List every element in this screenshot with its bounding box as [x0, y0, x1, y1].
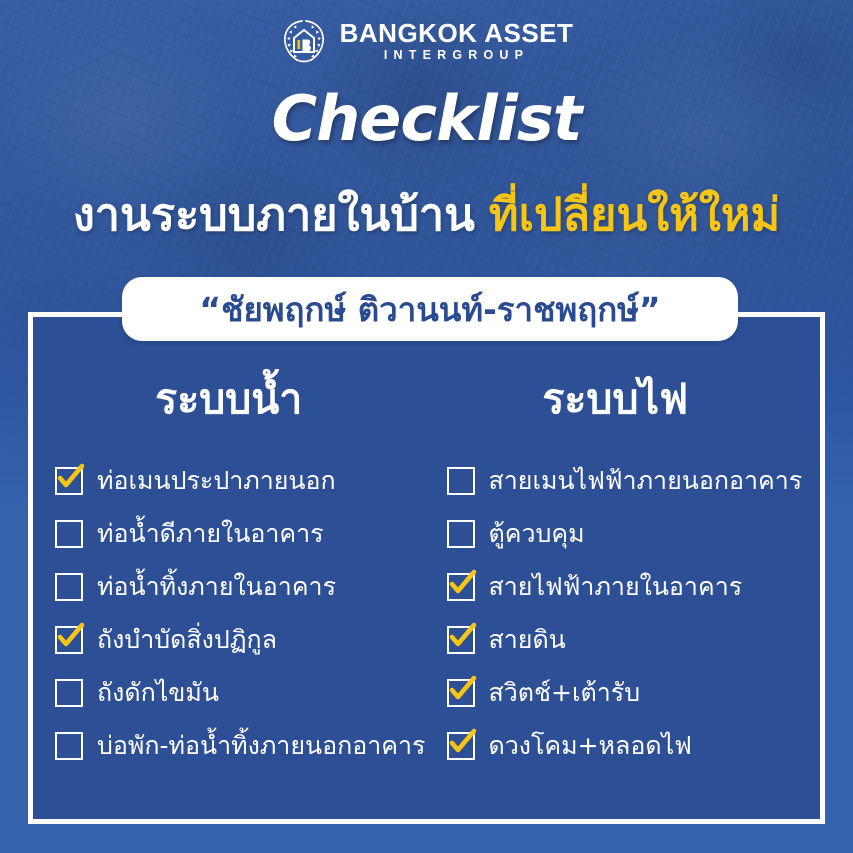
- list-item[interactable]: ถังดักไขมัน: [55, 666, 427, 719]
- list-item[interactable]: สายไฟฟ้าภายในอาคาร: [447, 560, 821, 613]
- list-item[interactable]: ท่อน้ำดีภายในอาคาร: [55, 507, 427, 560]
- project-name-text: “ชัยพฤกษ์ ติวานนท์-ราชพฤกษ์”: [199, 283, 660, 336]
- brand-name: BANGKOK ASSET: [340, 20, 574, 46]
- subtitle-white-part: งานระบบภายในบ้าน: [73, 188, 475, 241]
- list-item[interactable]: สวิตช์+เต้ารับ: [447, 666, 821, 719]
- checkbox-checked-icon[interactable]: [55, 626, 83, 654]
- list-item-label: สายไฟฟ้าภายในอาคาร: [489, 573, 743, 601]
- checklist-column-water: ระบบน้ำ ท่อเมนประปาภายนอก ท่: [33, 379, 427, 819]
- checkbox-checked-icon[interactable]: [447, 626, 475, 654]
- checklist-poster: BANGKOK ASSET INTERGROUP Checklist งานระ…: [0, 0, 853, 853]
- column-heading-water: ระบบน้ำ: [55, 379, 427, 420]
- list-item-label: สายดิน: [489, 626, 566, 654]
- brand-logo: BANGKOK ASSET INTERGROUP: [0, 16, 853, 66]
- list-item-label: ถังดักไขมัน: [97, 679, 219, 707]
- subtitle-yellow-part: ที่เปลี่ยนให้ใหม่: [489, 188, 780, 241]
- checkbox-checked-icon[interactable]: [447, 732, 475, 760]
- checkbox-empty-icon[interactable]: [55, 520, 83, 548]
- page-subtitle: งานระบบภายในบ้านที่เปลี่ยนให้ใหม่: [0, 178, 853, 250]
- list-item[interactable]: สายดิน: [447, 613, 821, 666]
- checklist-water-items: ท่อเมนประปาภายนอก ท่อน้ำดีภายในอาคาร: [55, 454, 427, 772]
- list-item-label: ตู้ควบคุม: [489, 520, 585, 548]
- checkbox-empty-icon[interactable]: [55, 679, 83, 707]
- list-item[interactable]: ท่อเมนประปาภายนอก: [55, 454, 427, 507]
- checklist-column-electrical: ระบบไฟ สายเมนไฟฟ้าภายนอกอาคาร: [427, 379, 821, 819]
- checklist-frame: ระบบน้ำ ท่อเมนประปาภายนอก ท่: [28, 312, 825, 824]
- checkbox-checked-icon[interactable]: [447, 679, 475, 707]
- list-item-label: ท่อน้ำทิ้งภายในอาคาร: [97, 573, 336, 601]
- list-item-label: สายเมนไฟฟ้าภายนอกอาคาร: [489, 467, 803, 495]
- list-item[interactable]: ดวงโคม+หลอดไฟ: [447, 719, 821, 772]
- project-name-banner: “ชัยพฤกษ์ ติวานนท์-ราชพฤกษ์”: [122, 277, 738, 341]
- checkbox-checked-icon[interactable]: [55, 467, 83, 495]
- page-title: Checklist: [0, 82, 853, 155]
- list-item-label: สวิตช์+เต้ารับ: [489, 679, 641, 707]
- list-item[interactable]: ตู้ควบคุม: [447, 507, 821, 560]
- list-item[interactable]: สายเมนไฟฟ้าภายนอกอาคาร: [447, 454, 821, 507]
- checkbox-empty-icon[interactable]: [55, 573, 83, 601]
- list-item-label: บ่อพัก-ท่อน้ำทิ้งภายนอกอาคาร: [97, 732, 425, 760]
- list-item[interactable]: บ่อพัก-ท่อน้ำทิ้งภายนอกอาคาร: [55, 719, 427, 772]
- list-item-label: ถังบำบัดสิ่งปฏิกูล: [97, 626, 277, 654]
- list-item[interactable]: ท่อน้ำทิ้งภายในอาคาร: [55, 560, 427, 613]
- list-item-label: ท่อน้ำดีภายในอาคาร: [97, 520, 324, 548]
- list-item[interactable]: ถังบำบัดสิ่งปฏิกูล: [55, 613, 427, 666]
- checkbox-empty-icon[interactable]: [447, 467, 475, 495]
- brand-subname: INTERGROUP: [340, 49, 574, 62]
- list-item-label: ดวงโคม+หลอดไฟ: [489, 732, 692, 760]
- list-item-label: ท่อเมนประปาภายนอก: [97, 467, 336, 495]
- checklist-electrical-items: สายเมนไฟฟ้าภายนอกอาคาร ตู้ควบคุม: [447, 454, 821, 772]
- column-heading-electrical: ระบบไฟ: [447, 379, 821, 420]
- checkbox-empty-icon[interactable]: [447, 520, 475, 548]
- laurel-wreath-house-logo-icon: [280, 17, 328, 65]
- checkbox-checked-icon[interactable]: [447, 573, 475, 601]
- checkbox-empty-icon[interactable]: [55, 732, 83, 760]
